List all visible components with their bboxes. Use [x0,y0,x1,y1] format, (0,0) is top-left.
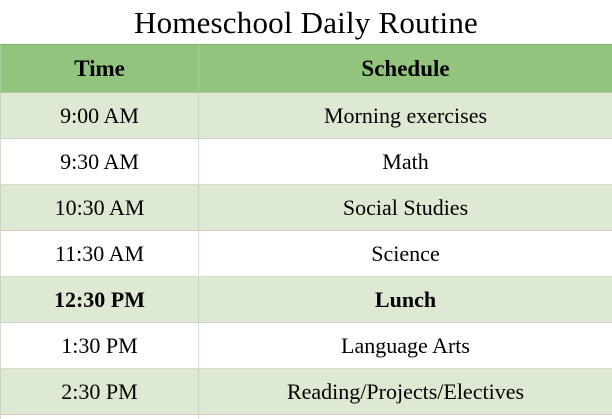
page-title-band: Homeschool Daily Routine [0,0,612,44]
cell-schedule: Reading/Projects/Electives [199,369,612,415]
table-row[interactable] [1,415,612,419]
cell-time: 9:00 AM [1,93,199,139]
page-title: Homeschool Daily Routine [134,7,478,38]
cell-schedule: Science [199,231,612,277]
column-header-time[interactable]: Time [1,45,199,93]
cell-time: 11:30 AM [1,231,199,277]
table-header: Time Schedule [1,45,612,93]
cell-schedule: Lunch [199,277,612,323]
cell-time: 2:30 PM [1,369,199,415]
table-row[interactable]: 10:30 AMSocial Studies [1,185,612,231]
schedule-page: Homeschool Daily Routine Time Schedule 9… [0,0,612,419]
cell-time: 10:30 AM [1,185,199,231]
cell-schedule: Language Arts [199,323,612,369]
cell-time [1,415,199,419]
cell-time: 1:30 PM [1,323,199,369]
table-row[interactable]: 1:30 PMLanguage Arts [1,323,612,369]
table-row[interactable]: 12:30 PMLunch [1,277,612,323]
table-row[interactable]: 11:30 AMScience [1,231,612,277]
table-row[interactable]: 9:00 AMMorning exercises [1,93,612,139]
table-clip-region: Time Schedule 9:00 AMMorning exercises9:… [0,44,612,419]
cell-schedule [199,415,612,419]
table-body: 9:00 AMMorning exercises9:30 AMMath10:30… [1,93,612,419]
table-row[interactable]: 2:30 PMReading/Projects/Electives [1,369,612,415]
table-header-row: Time Schedule [1,45,612,93]
cell-schedule: Math [199,139,612,185]
cell-schedule: Morning exercises [199,93,612,139]
cell-time: 9:30 AM [1,139,199,185]
cell-schedule: Social Studies [199,185,612,231]
cell-time: 12:30 PM [1,277,199,323]
daily-routine-table: Time Schedule 9:00 AMMorning exercises9:… [0,44,612,419]
table-row[interactable]: 9:30 AMMath [1,139,612,185]
column-header-schedule[interactable]: Schedule [199,45,612,93]
